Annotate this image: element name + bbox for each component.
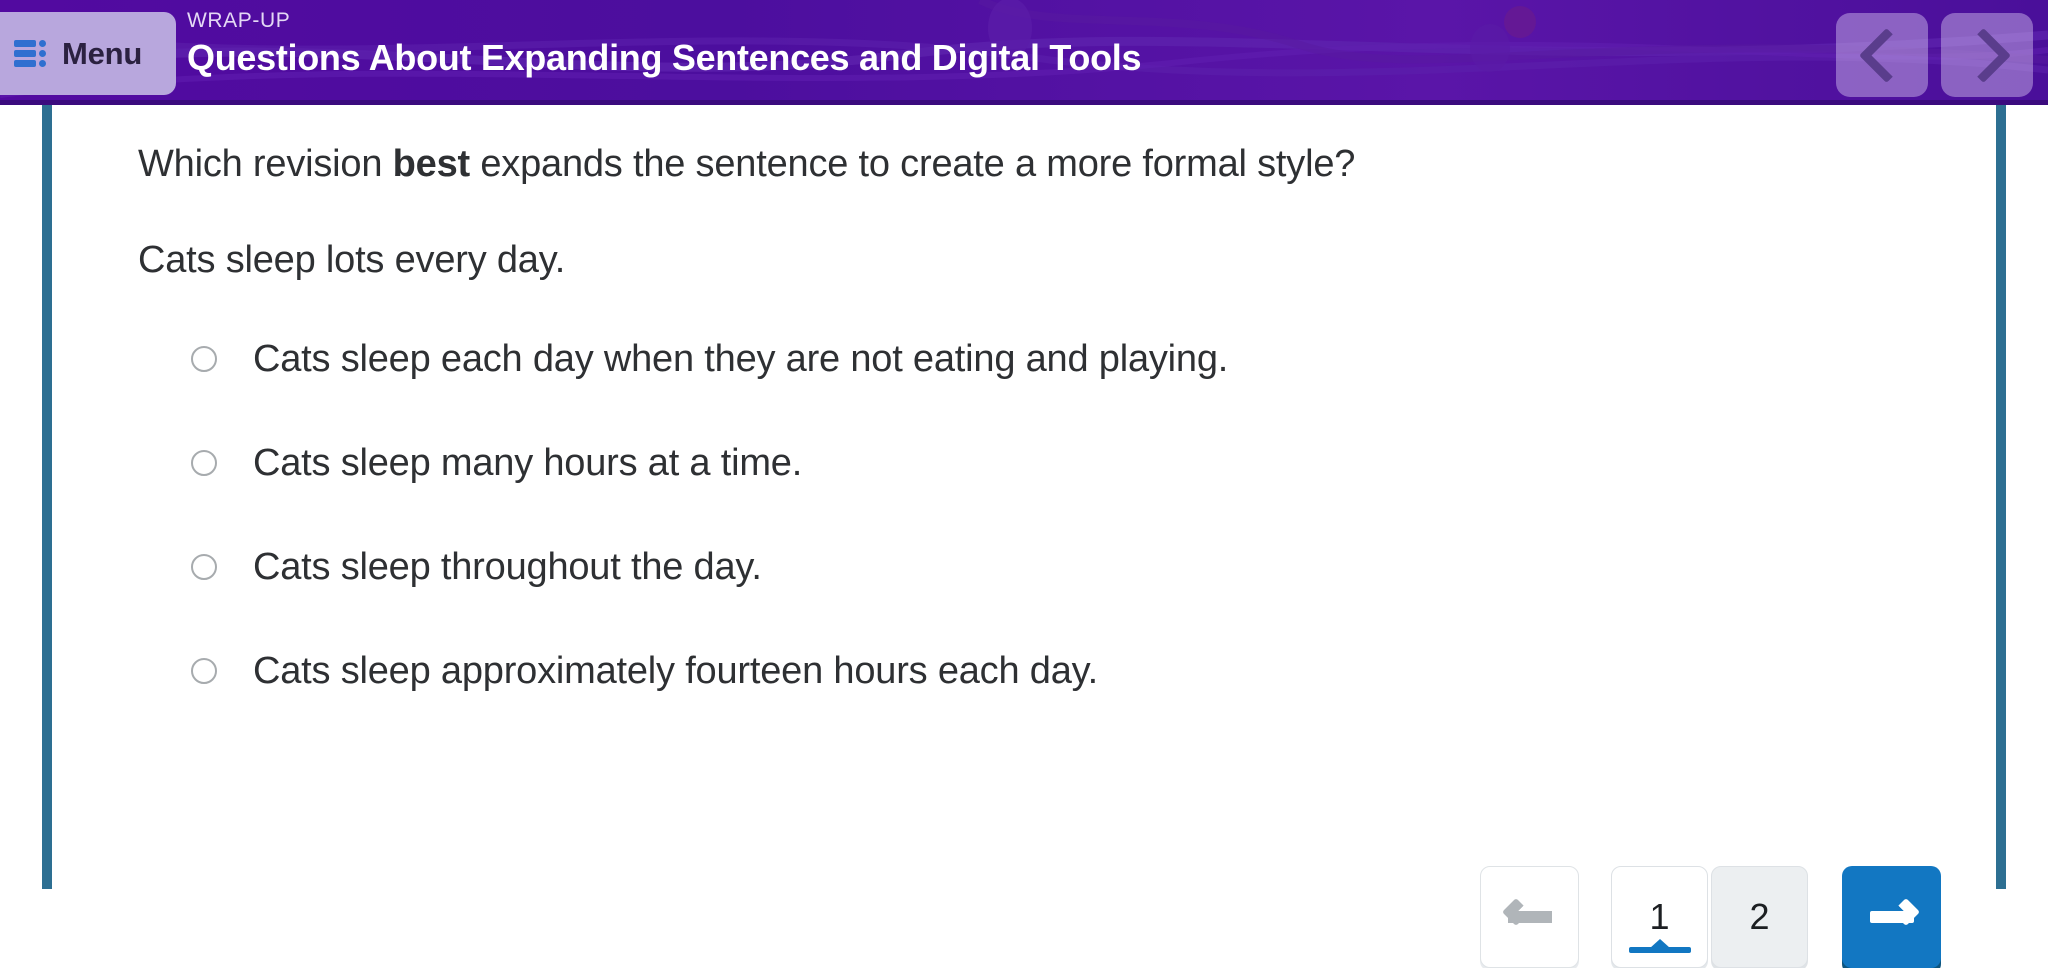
pagination-back-button[interactable] [1480, 866, 1579, 968]
pagination-forward-button[interactable] [1842, 866, 1941, 968]
header-title-group: WRAP-UP Questions About Expanding Senten… [187, 8, 1141, 80]
hamburger-list-icon [14, 39, 48, 69]
radio-button-icon[interactable] [191, 554, 217, 580]
pagination-bar: 1 2 [1480, 866, 1941, 968]
answer-options-list: Cats sleep each day when they are not ea… [191, 331, 1228, 747]
question-suffix: expands the sentence to create a more fo… [470, 143, 1355, 185]
pagination-page-1[interactable]: 1 [1611, 866, 1708, 968]
right-accent-border [1996, 105, 2006, 889]
left-accent-border [42, 105, 52, 889]
answer-option-label: Cats sleep throughout the day. [253, 546, 762, 589]
header-bottom-edge [0, 100, 2048, 105]
question-emphasis: best [393, 143, 470, 185]
question-prefix: Which revision [138, 143, 393, 185]
pagination-page-number: 2 [1749, 896, 1769, 938]
answer-option[interactable]: Cats sleep many hours at a time. [191, 435, 1228, 491]
active-page-indicator [1629, 947, 1691, 953]
answer-option-label: Cats sleep approximately fourteen hours … [253, 650, 1098, 693]
app-header: Menu WRAP-UP Questions About Expanding S… [0, 0, 2048, 105]
pagination-page-2[interactable]: 2 [1711, 866, 1808, 968]
question-panel: Which revision best expands the sentence… [52, 105, 1996, 889]
radio-button-icon[interactable] [191, 658, 217, 684]
answer-option-label: Cats sleep each day when they are not ea… [253, 338, 1228, 381]
radio-button-icon[interactable] [191, 346, 217, 372]
chevron-right-icon [1955, 27, 2010, 82]
question-text: Which revision best expands the sentence… [138, 143, 1355, 186]
header-prev-button[interactable] [1836, 13, 1928, 97]
answer-option[interactable]: Cats sleep each day when they are not ea… [191, 331, 1228, 387]
radio-button-icon[interactable] [191, 450, 217, 476]
pagination-page-number: 1 [1649, 896, 1669, 938]
prompt-sentence: Cats sleep lots every day. [138, 239, 565, 282]
arrow-left-icon [1508, 911, 1552, 923]
pagination-pages: 1 2 [1611, 866, 1808, 968]
page-title: Questions About Expanding Sentences and … [187, 35, 1141, 80]
menu-button[interactable]: Menu [0, 12, 176, 95]
chevron-left-icon [1858, 27, 1913, 82]
header-eyebrow: WRAP-UP [187, 8, 1141, 33]
arrow-right-icon [1870, 911, 1914, 923]
answer-option-label: Cats sleep many hours at a time. [253, 442, 802, 485]
header-next-button[interactable] [1941, 13, 2033, 97]
menu-button-label: Menu [62, 36, 142, 72]
answer-option[interactable]: Cats sleep approximately fourteen hours … [191, 643, 1228, 699]
answer-option[interactable]: Cats sleep throughout the day. [191, 539, 1228, 595]
